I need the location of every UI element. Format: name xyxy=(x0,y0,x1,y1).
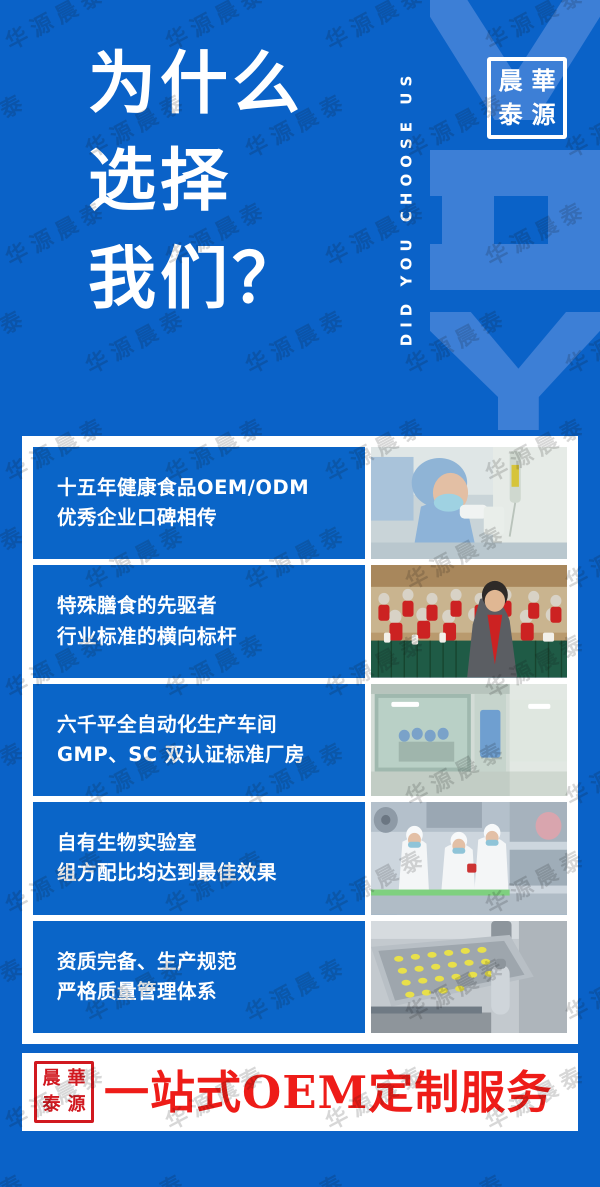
feature-card: 资质完备、生产规范 严格质量管理体系 xyxy=(33,921,567,1033)
feature-card: 特殊膳食的先驱者 行业标准的横向标杆 xyxy=(33,565,567,677)
feature-line-1: 自有生物实验室 xyxy=(57,828,365,858)
seal-char-1: 晨 xyxy=(494,64,527,98)
title-line-1: 为什么 xyxy=(88,48,388,121)
watermark-text: 华源晨泰 xyxy=(0,84,33,165)
footer-banner: 晨 華 泰 源 一站式OEM定制服务 xyxy=(22,1053,578,1131)
watermark-text: 华源晨泰 xyxy=(0,300,33,381)
watermark-text: 华源晨泰 xyxy=(399,1164,513,1187)
footer-seal-char-3: 泰 xyxy=(39,1092,64,1118)
watermark-text: 华源晨泰 xyxy=(79,1164,193,1187)
seal-char-3: 泰 xyxy=(494,98,527,132)
feature-line-1: 资质完备、生产规范 xyxy=(57,947,365,977)
title-line-2: 选择 xyxy=(88,145,388,218)
watermark-text: 华源晨泰 xyxy=(559,1164,600,1187)
feature-line-2: GMP、SC 双认证标准厂房 xyxy=(57,740,365,770)
feature-text-box: 资质完备、生产规范 严格质量管理体系 xyxy=(33,921,365,1033)
feature-card: 十五年健康食品OEM/ODM 优秀企业口碑相传 xyxy=(33,447,567,559)
footer-seal-char-1: 晨 xyxy=(39,1066,64,1092)
footer-seal: 晨 華 泰 源 xyxy=(34,1061,94,1123)
feature-photo-capsule-tray xyxy=(371,921,567,1033)
logo-seal: 晨 華 泰 源 xyxy=(487,57,567,139)
feature-line-1: 特殊膳食的先驱者 xyxy=(57,591,365,621)
feature-line-2: 组方配比均达到最佳效果 xyxy=(57,858,365,888)
feature-photo-conference xyxy=(371,565,567,677)
vertical-caption-text: DID YOU CHOOSE US xyxy=(397,70,415,347)
feature-photo-production-line xyxy=(371,802,567,914)
title-line-3: 我们？ xyxy=(88,243,388,316)
poster-root: 为什么 选择 我们？ DID YOU CHOOSE US 晨 華 泰 源 十五年… xyxy=(0,0,600,1187)
feature-line-2: 行业标准的横向标杆 xyxy=(57,622,365,652)
watermark-text: 华源晨泰 xyxy=(0,1164,33,1187)
footer-slogan: 一站式OEM定制服务 xyxy=(104,1070,552,1115)
footer-seal-char-2: 華 xyxy=(64,1066,89,1092)
feature-card: 六千平全自动化生产车间 GMP、SC 双认证标准厂房 xyxy=(33,684,567,796)
feature-line-1: 六千平全自动化生产车间 xyxy=(57,710,365,740)
feature-photo-cleanroom xyxy=(371,684,567,796)
vertical-caption: DID YOU CHOOSE US xyxy=(393,18,419,398)
page-title: 为什么 选择 我们？ xyxy=(88,48,388,316)
feature-text-box: 自有生物实验室 组方配比均达到最佳效果 xyxy=(33,802,365,914)
seal-char-2: 華 xyxy=(527,64,560,98)
letter-y-shape xyxy=(430,312,600,430)
feature-photo-lab-technician xyxy=(371,447,567,559)
feature-text-box: 六千平全自动化生产车间 GMP、SC 双认证标准厂房 xyxy=(33,684,365,796)
feature-text-box: 特殊膳食的先驱者 行业标准的横向标杆 xyxy=(33,565,365,677)
features-panel: 十五年健康食品OEM/ODM 优秀企业口碑相传 xyxy=(22,436,578,1044)
letter-h-bottom-bar xyxy=(430,244,600,290)
watermark-text: 华源晨泰 xyxy=(239,1164,353,1187)
features-list: 十五年健康食品OEM/ODM 优秀企业口碑相传 xyxy=(33,447,567,1033)
footer-seal-char-4: 源 xyxy=(64,1092,89,1118)
feature-card: 自有生物实验室 组方配比均达到最佳效果 xyxy=(33,802,567,914)
feature-line-1: 十五年健康食品OEM/ODM xyxy=(57,473,365,503)
feature-text-box: 十五年健康食品OEM/ODM 优秀企业口碑相传 xyxy=(33,447,365,559)
seal-char-4: 源 xyxy=(527,98,560,132)
feature-line-2: 优秀企业口碑相传 xyxy=(57,503,365,533)
feature-line-2: 严格质量管理体系 xyxy=(57,977,365,1007)
